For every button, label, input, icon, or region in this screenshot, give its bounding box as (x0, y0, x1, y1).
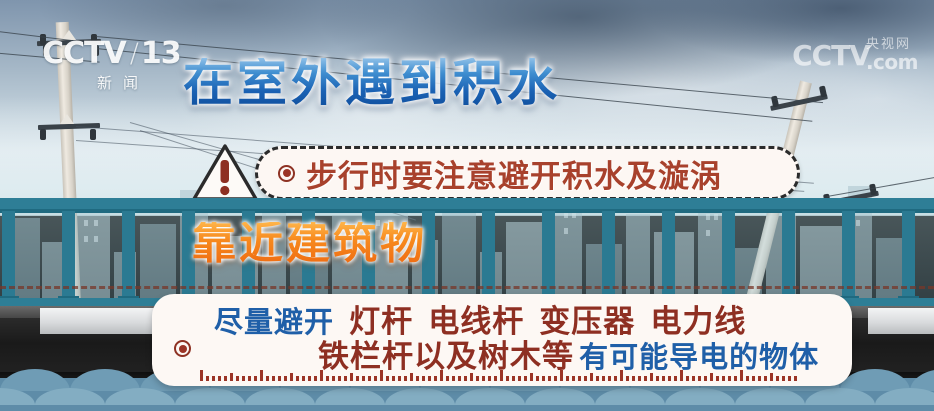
ruler-tick (422, 376, 425, 381)
deck-kerb-block (868, 308, 934, 334)
ruler-tick (680, 370, 683, 381)
ruler-tick (596, 376, 599, 381)
ruler-tick (518, 376, 521, 381)
ruler-tick (200, 370, 203, 381)
ruler-tick (500, 370, 503, 381)
ruler-tick (758, 376, 761, 381)
ruler-tick (698, 376, 701, 381)
ruler-tick (278, 376, 281, 381)
ruler-tick (344, 376, 347, 381)
ruler-tick (410, 373, 413, 381)
ruler-tick (620, 370, 623, 381)
ruler-tick (272, 376, 275, 381)
ruler-tick (710, 373, 713, 381)
ruler-tick (644, 376, 647, 381)
ruler-tick (398, 376, 401, 381)
water-wave-row (0, 388, 934, 410)
advice-suffix-text: 有可能导电的物体 (579, 340, 819, 374)
ruler-tick (536, 376, 539, 381)
ruler-tick (464, 376, 467, 381)
ruler-tick (374, 376, 377, 381)
cctv-logo-channel: 13 (141, 36, 181, 71)
advice-banner-buildings: 尽量避开 灯杆 电线杆 变压器 电力线 铁栏杆以及树木等 有可能导电的物体 (152, 294, 852, 386)
ruler-tick (296, 376, 299, 381)
ruler-tick (752, 376, 755, 381)
ruler-tick (290, 373, 293, 381)
ruler-tick (542, 376, 545, 381)
cctv-logo-slash: / (130, 38, 138, 69)
ruler-tick (782, 376, 785, 381)
ruler-tick (608, 376, 611, 381)
ruler-tick (734, 376, 737, 381)
ruler-tick (506, 376, 509, 381)
ruler-tick (452, 376, 455, 381)
ruler-tick (602, 376, 605, 381)
ruler-tick (668, 376, 671, 381)
ruler-tick (770, 373, 773, 381)
ruler-tick (428, 376, 431, 381)
ruler-tick (362, 376, 365, 381)
cctv-website-watermark: CCTV 央视网 .com (792, 38, 918, 72)
ruler-tick (242, 376, 245, 381)
ruler-tick (650, 373, 653, 381)
ruler-tick (764, 376, 767, 381)
ruler-tick (722, 376, 725, 381)
cctv-channel-logo: CCTV / 13 新闻 (42, 36, 182, 92)
ruler-decoration (200, 370, 800, 381)
ruler-tick (728, 376, 731, 381)
bullet-dot-icon (174, 340, 191, 357)
page-title: 在室外遇到积水 (183, 58, 561, 108)
ruler-tick (308, 376, 311, 381)
cctv-logo-text: CCTV (42, 36, 126, 71)
ruler-tick (584, 376, 587, 381)
ruler-tick (632, 376, 635, 381)
ruler-tick (512, 376, 515, 381)
ruler-tick (494, 376, 497, 381)
ruler-tick (320, 370, 323, 381)
ruler-tick (302, 376, 305, 381)
ruler-tick (788, 376, 791, 381)
ruler-tick (482, 376, 485, 381)
ruler-tick (662, 376, 665, 381)
ruler-tick (746, 376, 749, 381)
ruler-tick (578, 376, 581, 381)
ruler-tick (332, 376, 335, 381)
advice-prefix-text: 尽量避开 (214, 305, 334, 339)
ruler-tick (476, 376, 479, 381)
advice-line-two: 铁栏杆以及树木等 有可能导电的物体 (210, 341, 819, 374)
ruler-tick (350, 373, 353, 381)
bullet-dot-icon (278, 165, 295, 182)
ruler-tick (548, 376, 551, 381)
ruler-tick (446, 376, 449, 381)
ruler-tick (716, 376, 719, 381)
ruler-tick (284, 376, 287, 381)
ruler-tick (206, 376, 209, 381)
ruler-tick (212, 376, 215, 381)
hazard-item-power-line: 电力线 (650, 304, 746, 340)
ruler-tick (338, 376, 341, 381)
ruler-tick (638, 376, 641, 381)
ruler-tick (530, 373, 533, 381)
ruler-tick (470, 373, 473, 381)
ruler-tick (356, 376, 359, 381)
ruler-tick (524, 376, 527, 381)
ruler-tick (260, 370, 263, 381)
advice-banner-walking: 步行时要注意避开积水及漩涡 (255, 146, 800, 200)
ruler-tick (314, 376, 317, 381)
ruler-tick (248, 376, 251, 381)
ruler-tick (488, 376, 491, 381)
ruler-tick (776, 376, 779, 381)
ruler-tick (386, 376, 389, 381)
ruler-tick (590, 373, 593, 381)
hazard-item-utility-pole: 电线杆 (428, 304, 524, 340)
watermark-cctv-text: CCTV (792, 39, 870, 72)
sub-title: 靠近建筑物 (192, 222, 427, 266)
ruler-tick (416, 376, 419, 381)
ruler-tick (380, 370, 383, 381)
ruler-tick (560, 370, 563, 381)
ruler-tick (794, 376, 797, 381)
warning-triangle-icon (190, 142, 260, 204)
ruler-tick (686, 376, 689, 381)
ruler-tick (434, 376, 437, 381)
ruler-tick (368, 376, 371, 381)
ruler-tick (440, 370, 443, 381)
watermark-domain-text: .com (866, 52, 918, 72)
ruler-tick (254, 376, 257, 381)
ruler-tick (674, 376, 677, 381)
ruler-tick (692, 376, 695, 381)
hazard-item-transformer: 变压器 (539, 304, 635, 340)
advice-banner-walking-text: 步行时要注意避开积水及漩涡 (306, 151, 722, 196)
ruler-tick (704, 376, 707, 381)
ruler-tick (626, 376, 629, 381)
advice-line-one: 尽量避开 灯杆 电线杆 变压器 电力线 (210, 306, 819, 339)
ruler-tick (566, 376, 569, 381)
ruler-tick (218, 376, 221, 381)
ruler-tick (614, 376, 617, 381)
ruler-tick (266, 376, 269, 381)
ruler-tick (554, 376, 557, 381)
ruler-tick (230, 373, 233, 381)
sub-title-group: 靠近建筑物 靠近建筑物 (192, 222, 427, 266)
deck-kerb-block (40, 308, 158, 334)
cctv-logo-subtitle: 新闻 (42, 72, 182, 93)
broadcast-frame: CCTV / 13 新闻 CCTV 央视网 .com 在室外遇到积水 在室外遇到… (0, 0, 934, 411)
ruler-tick (572, 376, 575, 381)
ruler-tick (656, 376, 659, 381)
deck-dashed-divider (0, 286, 934, 289)
ruler-tick (458, 376, 461, 381)
ruler-tick (392, 376, 395, 381)
ruler-tick (404, 376, 407, 381)
ruler-tick (236, 376, 239, 381)
ruler-tick (740, 370, 743, 381)
hazard-item-lamp-post: 灯杆 (349, 304, 413, 340)
ruler-tick (224, 376, 227, 381)
ruler-tick (326, 376, 329, 381)
